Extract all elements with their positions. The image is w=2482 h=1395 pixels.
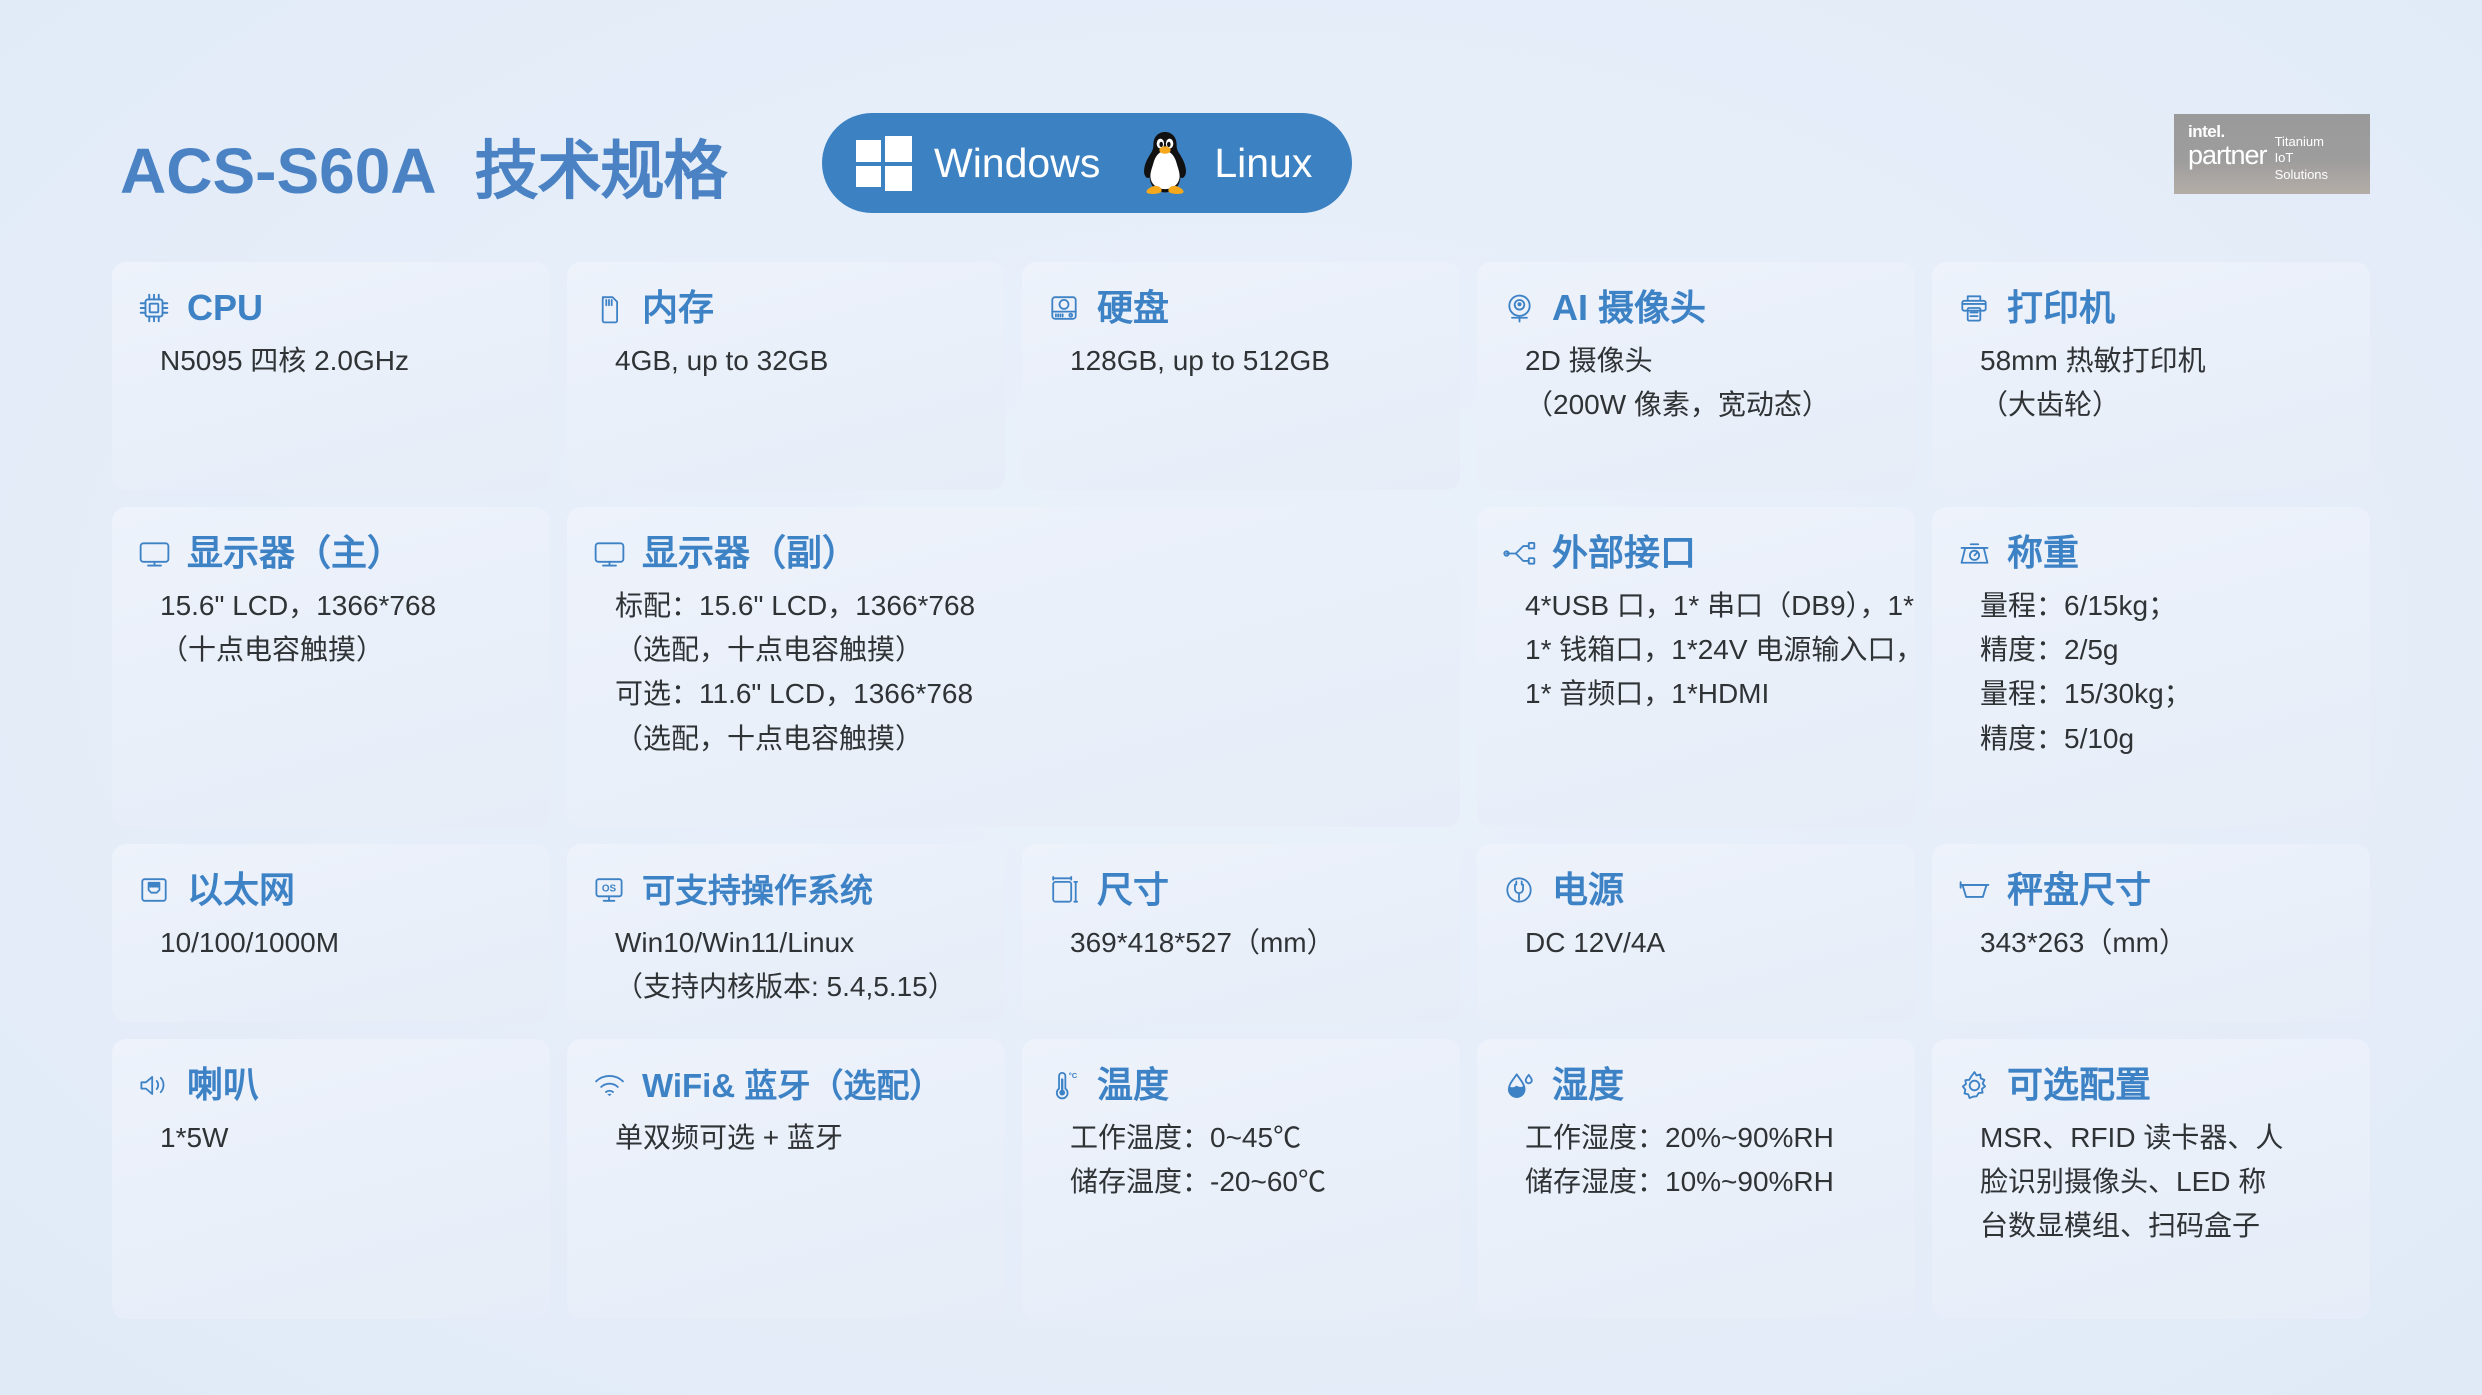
partner-wordmark: partner — [2188, 141, 2267, 169]
card-header: 以太网 — [134, 870, 528, 910]
printer-icon — [1954, 288, 1994, 328]
spec-card-dimensions: 尺寸369*418*527（mm） — [1022, 844, 1460, 1022]
card-body: 369*418*527（mm） — [1044, 921, 1438, 965]
thermometer-icon: °C — [1044, 1065, 1084, 1105]
card-header: 显示器（主） — [134, 533, 528, 573]
card-spec-line: 369*418*527（mm） — [1070, 921, 1438, 965]
spec-card-weighing: 称重量程：6/15kg；精度：2/5g量程：15/30kg；精度：5/10g — [1932, 507, 2370, 827]
page-subtitle: 技术规格 — [475, 135, 727, 207]
card-spec-line: 128GB, up to 512GB — [1070, 339, 1438, 383]
os-support-badge: Windows Linux — [822, 113, 1352, 213]
card-spec-line: 2D 摄像头 — [1525, 339, 1893, 383]
card-body: 1*5W — [134, 1116, 528, 1160]
card-header: 内存 — [589, 288, 983, 328]
spec-card-storage: 硬盘128GB, up to 512GB — [1022, 262, 1460, 490]
card-spec-line: 10/100/1000M — [160, 921, 528, 965]
card-spec-line: DC 12V/4A — [1525, 921, 1893, 965]
os-screen-icon: OS — [589, 870, 629, 910]
card-spec-line: 台数显模组、扫码盒子 — [1980, 1204, 2348, 1248]
card-title: 以太网 — [187, 872, 295, 908]
card-body: N5095 四核 2.0GHz — [134, 339, 528, 383]
wifi-icon — [589, 1065, 629, 1105]
card-title: CPU — [187, 290, 263, 326]
tux-penguin-icon — [1134, 129, 1196, 197]
spec-card-temperature: °C温度工作温度：0~45℃储存温度：-20~60℃ — [1022, 1039, 1460, 1319]
card-spec-line: 标配：15.6" LCD，1366*768 — [615, 584, 1438, 628]
card-spec-line: （选配，十点电容触摸） — [615, 717, 1438, 761]
card-header: 湿度 — [1499, 1065, 1893, 1105]
rj45-port-icon — [134, 870, 174, 910]
spec-card-memory: 内存4GB, up to 32GB — [567, 262, 1005, 490]
card-body: 4GB, up to 32GB — [589, 339, 983, 383]
spec-card-grid: CPUN5095 四核 2.0GHz内存4GB, up to 32GB硬盘128… — [112, 262, 2370, 1317]
card-body: MSR、RFID 读卡器、人脸识别摄像头、LED 称台数显模组、扫码盒子 — [1954, 1116, 2348, 1249]
spec-card-external-ports: 外部接口4*USB 口，1* 串口（DB9），1* 网口，1* 钱箱口，1*24… — [1477, 507, 1915, 827]
card-body: Win10/Win11/Linux（支持内核版本: 5.4,5.15） — [589, 921, 983, 1009]
spec-card-printer: 打印机58mm 热敏打印机（大齿轮） — [1932, 262, 2370, 490]
card-spec-line: （选配，十点电容触摸） — [615, 628, 1438, 672]
card-spec-line: 58mm 热敏打印机 — [1980, 339, 2348, 383]
card-body: 343*263（mm） — [1954, 921, 2348, 965]
card-title: 温度 — [1097, 1067, 1169, 1103]
card-spec-line: 量程：6/15kg； — [1980, 584, 2348, 628]
card-body: 工作温度：0~45℃储存温度：-20~60℃ — [1044, 1116, 1438, 1204]
cpu-chip-icon — [134, 288, 174, 328]
card-body: 量程：6/15kg；精度：2/5g量程：15/30kg；精度：5/10g — [1954, 584, 2348, 761]
windows-logo-icon — [856, 136, 912, 190]
spec-card-humidity: 湿度工作湿度：20%~90%RH储存湿度：10%~90%RH — [1477, 1039, 1915, 1319]
card-header: 喇叭 — [134, 1065, 528, 1105]
card-title: 称重 — [2007, 535, 2079, 571]
card-body: 4*USB 口，1* 串口（DB9），1* 网口，1* 钱箱口，1*24V 电源… — [1499, 584, 1893, 717]
card-title: WiFi& 蓝牙（选配） — [642, 1069, 942, 1102]
scale-pan-icon — [1954, 870, 1994, 910]
card-header: 显示器（副） — [589, 533, 1438, 573]
card-header: 可选配置 — [1954, 1065, 2348, 1105]
speaker-icon — [134, 1065, 174, 1105]
card-header: AI 摄像头 — [1499, 288, 1893, 328]
svg-text:°C: °C — [1069, 1071, 1078, 1080]
windows-label: Windows — [934, 140, 1100, 187]
page-header: ACS-S60A技术规格 Windows — [0, 0, 2482, 250]
card-spec-line: 精度：5/10g — [1980, 717, 2348, 761]
memory-card-icon — [589, 288, 629, 328]
card-title: 湿度 — [1552, 1067, 1624, 1103]
monitor-icon — [589, 533, 629, 573]
card-title: 电源 — [1552, 872, 1624, 908]
card-body: 标配：15.6" LCD，1366*768（选配，十点电容触摸）可选：11.6"… — [589, 584, 1438, 761]
card-title: 可支持操作系统 — [642, 874, 873, 907]
card-header: 硬盘 — [1044, 288, 1438, 328]
dimensions-icon — [1044, 870, 1084, 910]
card-title: 可选配置 — [2007, 1067, 2151, 1103]
card-title: 显示器（副） — [642, 535, 858, 571]
weighing-scale-icon — [1954, 533, 1994, 573]
card-title: 秤盘尺寸 — [2007, 872, 2151, 908]
card-header: WiFi& 蓝牙（选配） — [589, 1065, 983, 1105]
usb-ports-icon — [1499, 533, 1539, 573]
card-spec-line: 15.6" LCD，1366*768 — [160, 584, 528, 628]
spec-card-ethernet: 以太网10/100/1000M — [112, 844, 550, 1022]
card-spec-line: 1* 音频口，1*HDMI — [1525, 672, 1893, 716]
card-spec-line: 1* 钱箱口，1*24V 电源输入口， — [1525, 628, 1893, 672]
monitor-icon — [134, 533, 174, 573]
gear-icon — [1954, 1065, 1994, 1105]
card-spec-line: MSR、RFID 读卡器、人 — [1980, 1116, 2348, 1160]
spec-card-power: 电源DC 12V/4A — [1477, 844, 1915, 1022]
hard-disk-icon — [1044, 288, 1084, 328]
water-drop-icon — [1499, 1065, 1539, 1105]
card-spec-line: 1*5W — [160, 1116, 528, 1160]
card-spec-line: N5095 四核 2.0GHz — [160, 339, 528, 383]
spec-card-operating-system: OS可支持操作系统Win10/Win11/Linux（支持内核版本: 5.4,5… — [567, 844, 1005, 1022]
card-header: 称重 — [1954, 533, 2348, 573]
card-title: 硬盘 — [1097, 290, 1169, 326]
card-body: 10/100/1000M — [134, 921, 528, 965]
page-title: ACS-S60A技术规格 — [120, 120, 727, 212]
card-body: DC 12V/4A — [1499, 921, 1893, 965]
card-body: 单双频可选 + 蓝牙 — [589, 1116, 983, 1160]
card-spec-line: （支持内核版本: 5.4,5.15） — [615, 965, 983, 1009]
card-header: 电源 — [1499, 870, 1893, 910]
card-spec-line: 精度：2/5g — [1980, 628, 2348, 672]
card-title: 打印机 — [2007, 290, 2115, 326]
card-title: 外部接口 — [1552, 535, 1696, 571]
card-spec-line: （十点电容触摸） — [160, 628, 528, 672]
card-header: 外部接口 — [1499, 533, 1893, 573]
intel-partner-badge: intel. partner Titanium IoT Solutions — [2174, 114, 2370, 194]
intel-wordmark: intel. — [2188, 123, 2267, 140]
spec-card-display-secondary: 显示器（副）标配：15.6" LCD，1366*768（选配，十点电容触摸）可选… — [567, 507, 1460, 827]
card-spec-line: （200W 像素，宽动态） — [1525, 383, 1893, 427]
card-title: 内存 — [642, 290, 714, 326]
card-header: 秤盘尺寸 — [1954, 870, 2348, 910]
intel-program-line-1: Titanium — [2275, 134, 2328, 150]
product-model: ACS-S60A — [120, 135, 437, 207]
card-header: OS可支持操作系统 — [589, 870, 983, 910]
card-spec-line: 脸识别摄像头、LED 称 — [1980, 1160, 2348, 1204]
card-body: 工作湿度：20%~90%RH储存湿度：10%~90%RH — [1499, 1116, 1893, 1204]
spec-card-wifi-bluetooth: WiFi& 蓝牙（选配）单双频可选 + 蓝牙 — [567, 1039, 1005, 1319]
camera-lens-icon — [1499, 288, 1539, 328]
card-spec-line: 储存温度：-20~60℃ — [1070, 1160, 1438, 1204]
card-header: 尺寸 — [1044, 870, 1438, 910]
card-spec-line: 4*USB 口，1* 串口（DB9），1* 网口， — [1525, 584, 1893, 628]
card-spec-line: 4GB, up to 32GB — [615, 339, 983, 383]
card-spec-line: 可选：11.6" LCD，1366*768 — [615, 672, 1438, 716]
card-header: °C温度 — [1044, 1065, 1438, 1105]
spec-card-display-main: 显示器（主）15.6" LCD，1366*768（十点电容触摸） — [112, 507, 550, 827]
card-body: 58mm 热敏打印机（大齿轮） — [1954, 339, 2348, 427]
card-spec-line: Win10/Win11/Linux — [615, 921, 983, 965]
card-spec-line: 单双频可选 + 蓝牙 — [615, 1116, 983, 1160]
intel-program-line-3: Solutions — [2275, 167, 2328, 183]
card-spec-line: 343*263（mm） — [1980, 921, 2348, 965]
power-plug-icon — [1499, 870, 1539, 910]
svg-text:OS: OS — [602, 883, 617, 894]
card-header: CPU — [134, 288, 528, 328]
spec-card-cpu: CPUN5095 四核 2.0GHz — [112, 262, 550, 490]
linux-label: Linux — [1214, 140, 1312, 187]
card-title: AI 摄像头 — [1552, 290, 1706, 326]
card-spec-line: 工作湿度：20%~90%RH — [1525, 1116, 1893, 1160]
card-spec-line: （大齿轮） — [1980, 383, 2348, 427]
card-spec-line: 量程：15/30kg； — [1980, 672, 2348, 716]
card-header: 打印机 — [1954, 288, 2348, 328]
spec-card-ai-camera: AI 摄像头2D 摄像头（200W 像素，宽动态） — [1477, 262, 1915, 490]
card-body: 15.6" LCD，1366*768（十点电容触摸） — [134, 584, 528, 672]
spec-card-optional-config: 可选配置MSR、RFID 读卡器、人脸识别摄像头、LED 称台数显模组、扫码盒子 — [1932, 1039, 2370, 1319]
spec-card-platter-size: 秤盘尺寸343*263（mm） — [1932, 844, 2370, 1022]
card-body: 128GB, up to 512GB — [1044, 339, 1438, 383]
intel-program-line-2: IoT — [2275, 150, 2328, 166]
card-body: 2D 摄像头（200W 像素，宽动态） — [1499, 339, 1893, 427]
spec-card-speaker: 喇叭1*5W — [112, 1039, 550, 1319]
card-title: 喇叭 — [187, 1067, 259, 1103]
card-spec-line: 工作温度：0~45℃ — [1070, 1116, 1438, 1160]
card-title: 尺寸 — [1097, 872, 1169, 908]
card-spec-line: 储存湿度：10%~90%RH — [1525, 1160, 1893, 1204]
card-title: 显示器（主） — [187, 535, 403, 571]
